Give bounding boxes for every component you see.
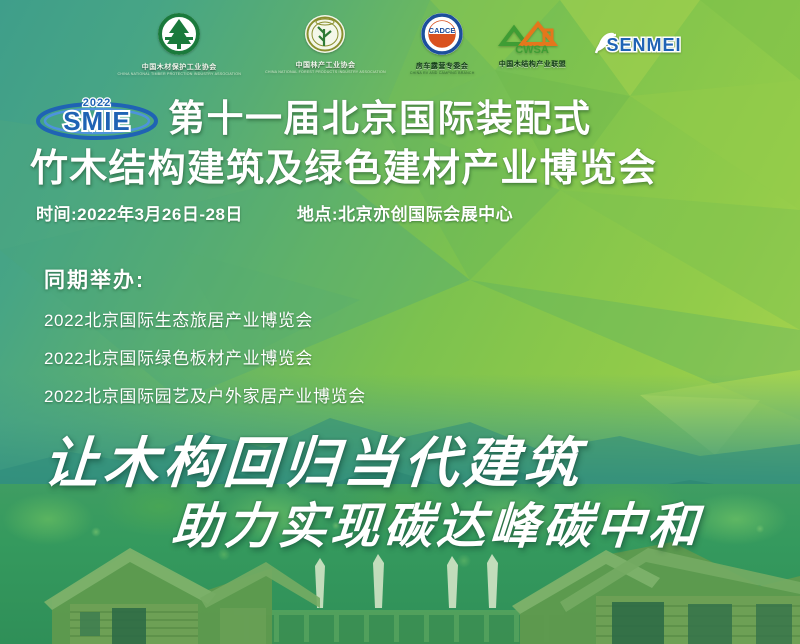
cadce-roundel-icon: CADCE <box>420 12 464 61</box>
sponsor-logo-senmei[interactable]: SENMEI <box>590 27 682 62</box>
sponsor-logo-cwsa[interactable]: CWSA 中国木结构产业联盟 <box>498 20 566 69</box>
sponsor-name-cn: 中国林产工业协会 <box>295 62 355 70</box>
sponsor-name-en: CHINA RV AND CAMPING BRANCH <box>410 72 475 76</box>
list-item: 2022北京国际生态旅居产业博览会 <box>44 306 366 331</box>
bamboo-seal-icon <box>304 13 346 60</box>
event-meta: 时间:2022年3月26日-28日 地点:北京亦创国际会展中心 <box>36 200 800 225</box>
house-roof-icon: CWSA <box>498 20 566 59</box>
slogan-line-2: 助力实现碳达峰碳中和 <box>170 487 705 558</box>
smie-logo: 2022 SMIE <box>34 94 160 142</box>
sponsor-logo-china-timber-protection[interactable]: 中国木材保护工业协会 CHINA NATIONAL TIMBER PROTECT… <box>118 11 242 77</box>
list-item: 2022北京国际园艺及户外家居产业博览会 <box>44 382 366 407</box>
headline-line-1: 第十一届北京国际装配式 <box>168 100 592 137</box>
pine-tree-shield-icon <box>156 11 202 62</box>
sponsor-name-cn: 中国木材保护工业协会 <box>142 64 217 72</box>
concurrent-title: 同期举办: <box>44 264 366 294</box>
headline-line-2: 竹木结构建筑及绿色建材产业博览会 <box>30 150 800 188</box>
list-item: 2022北京国际绿色板材产业博览会 <box>44 344 366 369</box>
slogan-line-1: 让木构回归当代建筑 <box>41 418 587 498</box>
concurrent-event-list: 2022北京国际生态旅居产业博览会 2022北京国际绿色板材产业博览会 2022… <box>44 306 366 407</box>
headline-block: 2022 SMIE 第十一届北京国际装配式 竹木结构建筑及绿色建材产业博览会 <box>0 92 800 188</box>
patio-umbrella <box>315 554 498 608</box>
sponsor-name-cn: 房车露营专委会 <box>416 63 469 71</box>
sponsor-name-en: CHINA NATIONAL TIMBER PROTECTION INDUSTR… <box>118 73 242 77</box>
svg-text:CADCE: CADCE <box>429 26 456 35</box>
svg-text:SENMEI: SENMEI <box>607 35 682 55</box>
concurrent-events: 同期举办: 2022北京国际生态旅居产业博览会 2022北京国际绿色板材产业博览… <box>44 264 366 420</box>
exhibition-poster: 中国木材保护工业协会 CHINA NATIONAL TIMBER PROTECT… <box>0 0 800 644</box>
event-venue: 地点:北京亦创国际会展中心 <box>297 200 513 225</box>
event-date: 时间:2022年3月26日-28日 <box>36 200 243 225</box>
sponsor-logo-cadce[interactable]: CADCE 房车露营专委会 CHINA RV AND CAMPING BRANC… <box>410 12 475 76</box>
sponsor-logo-bamboo-association[interactable]: 中国林产工业协会 CHINA NATIONAL FOREST PRODUCTS … <box>265 13 386 75</box>
sponsor-logo-strip: 中国木材保护工业协会 CHINA NATIONAL TIMBER PROTECT… <box>0 0 800 88</box>
svg-text:CWSA: CWSA <box>516 44 550 54</box>
leaf-sprout-icon: SENMEI <box>590 27 682 62</box>
sponsor-name-en: CHINA NATIONAL FOREST PRODUCTS INDUSTRY … <box>265 71 386 75</box>
sponsor-name-cn: 中国木结构产业联盟 <box>499 61 567 69</box>
svg-text:SMIE: SMIE <box>63 106 131 136</box>
